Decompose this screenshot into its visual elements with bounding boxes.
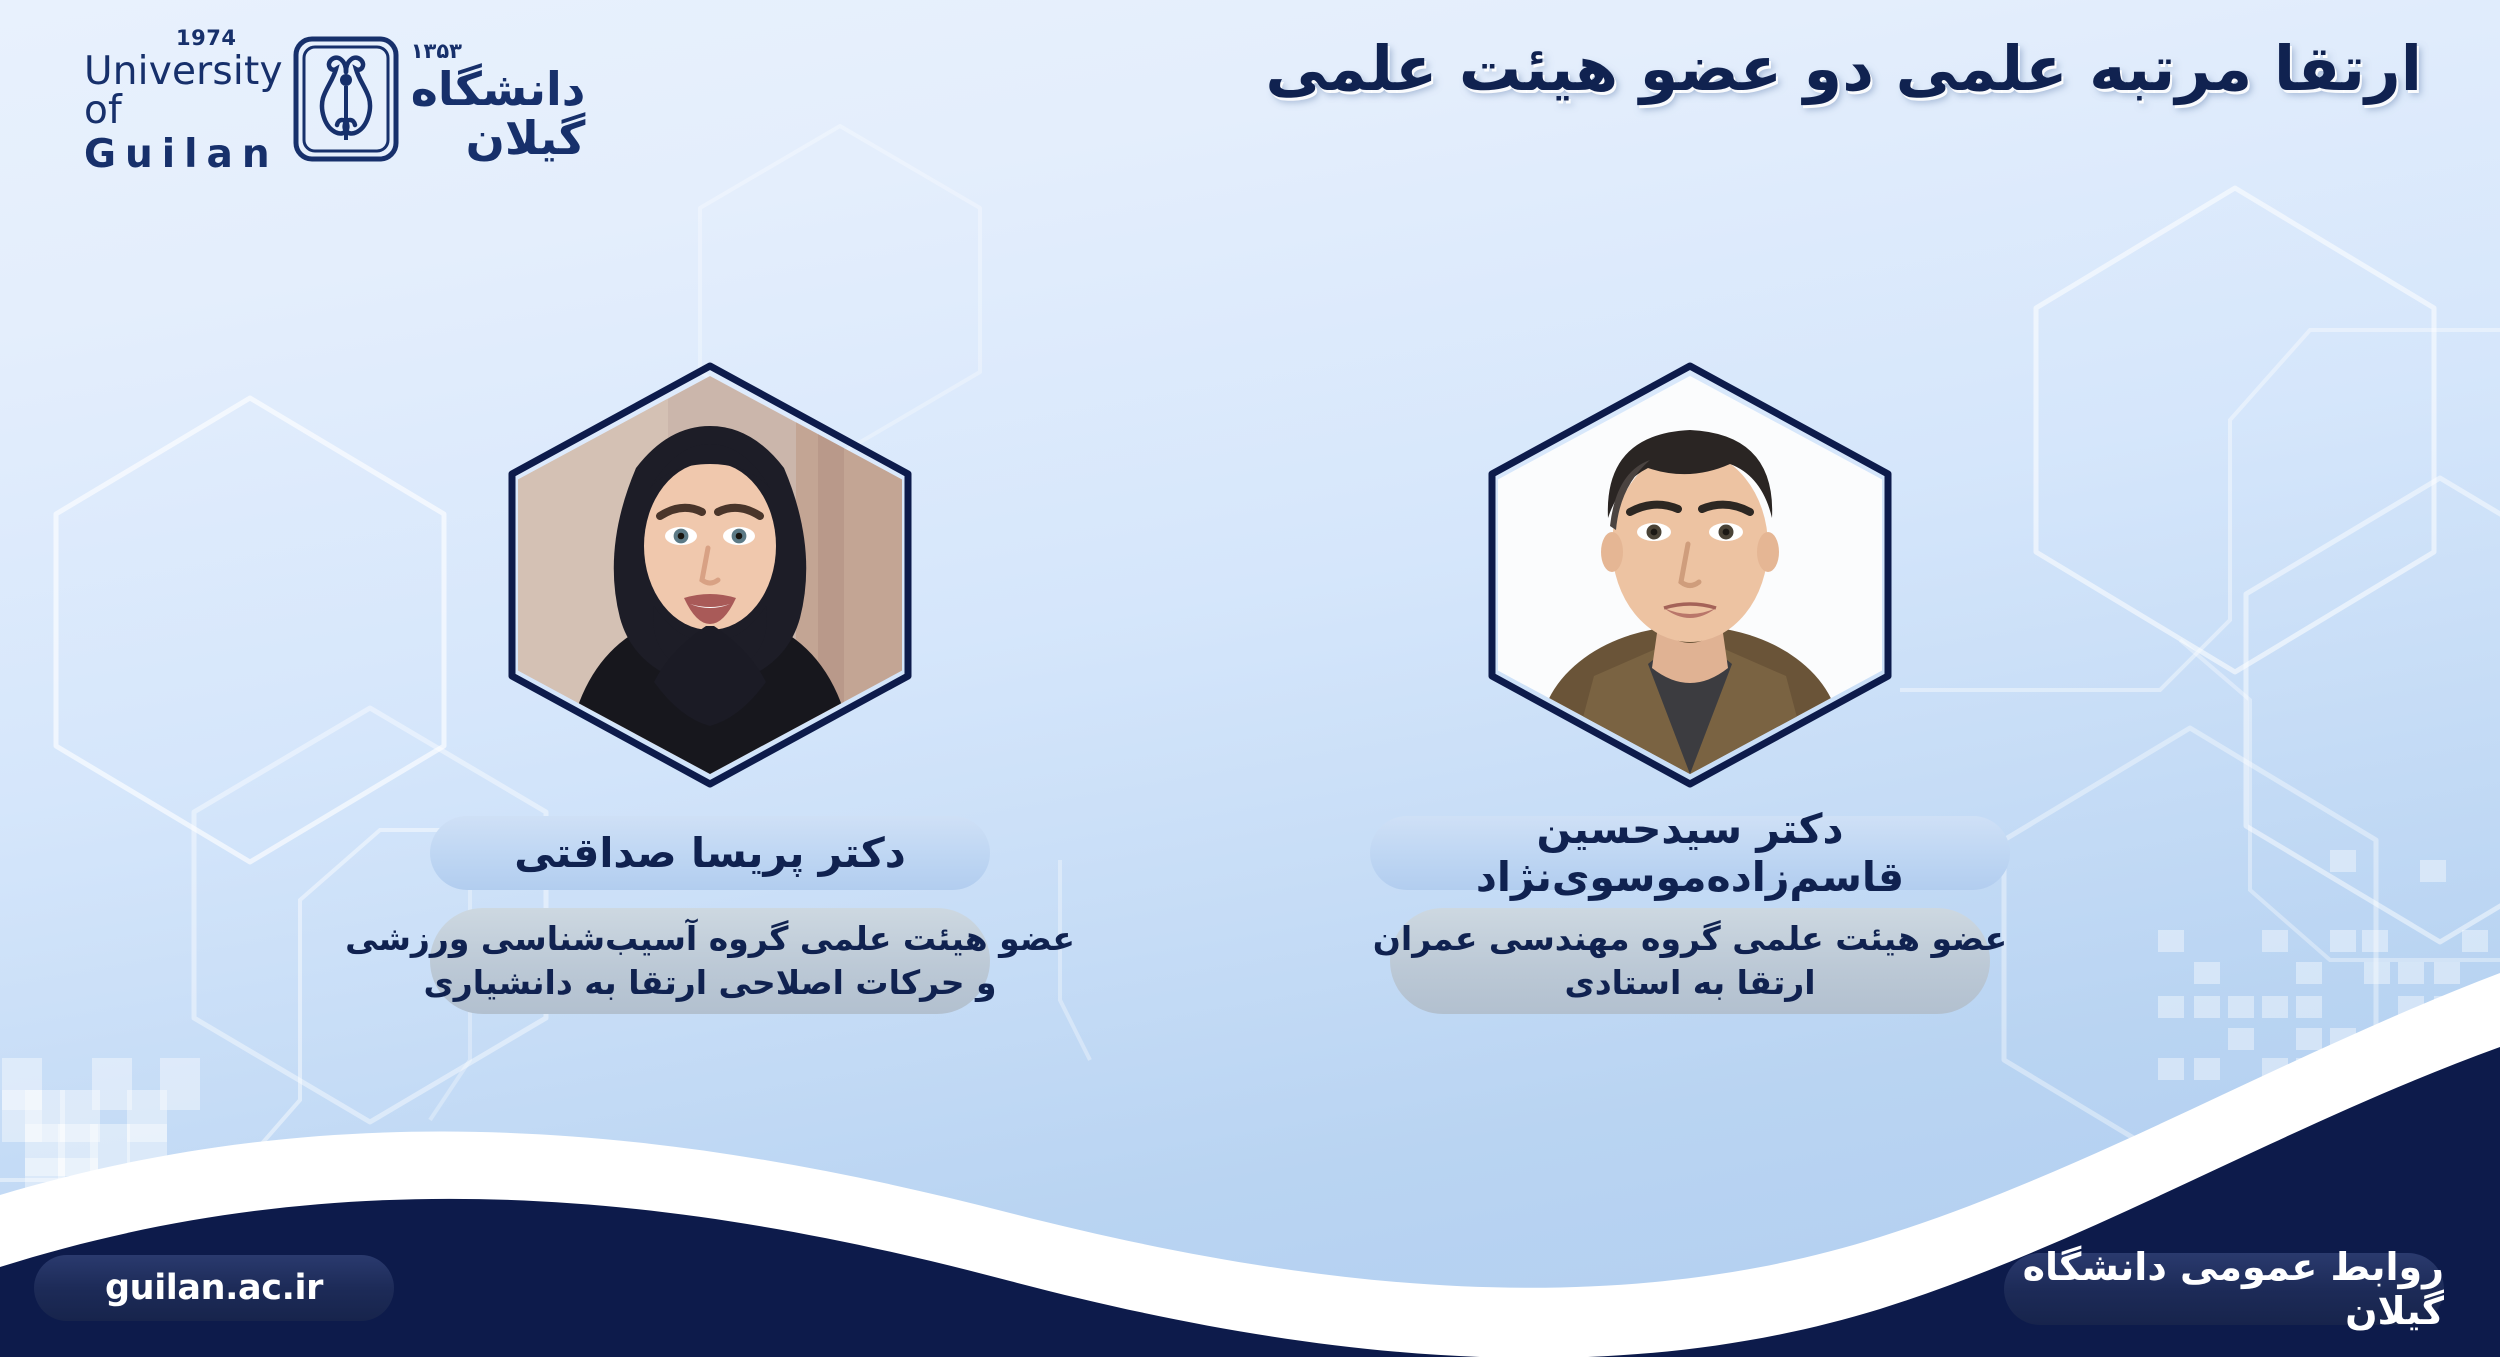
faculty-name-badge-left: دکتر پریسا صداقتی xyxy=(430,816,990,890)
poster-canvas: 1974 University of Guilan ۱۳۵۳ دانشگاه گ… xyxy=(0,0,2500,1357)
public-relations-badge: روابط عمومی دانشگاه گیلان xyxy=(2004,1253,2444,1325)
faculty-card-left: دکتر پریسا صداقتی عضو هیئت علمی گروه آسی… xyxy=(330,360,1090,1014)
faculty-name-badge-right: دکتر سیدحسین قاسم‌زاده‌موسوی‌نژاد xyxy=(1370,816,2010,890)
website-badge[interactable]: guilan.ac.ir xyxy=(34,1255,394,1321)
avatar xyxy=(1480,360,1900,790)
hexagon-frame-icon xyxy=(1480,360,1900,790)
hexagon-frame-icon xyxy=(500,360,920,790)
avatar xyxy=(500,360,920,790)
faculty-card-right: دکتر سیدحسین قاسم‌زاده‌موسوی‌نژاد عضو هی… xyxy=(1310,360,2070,1014)
